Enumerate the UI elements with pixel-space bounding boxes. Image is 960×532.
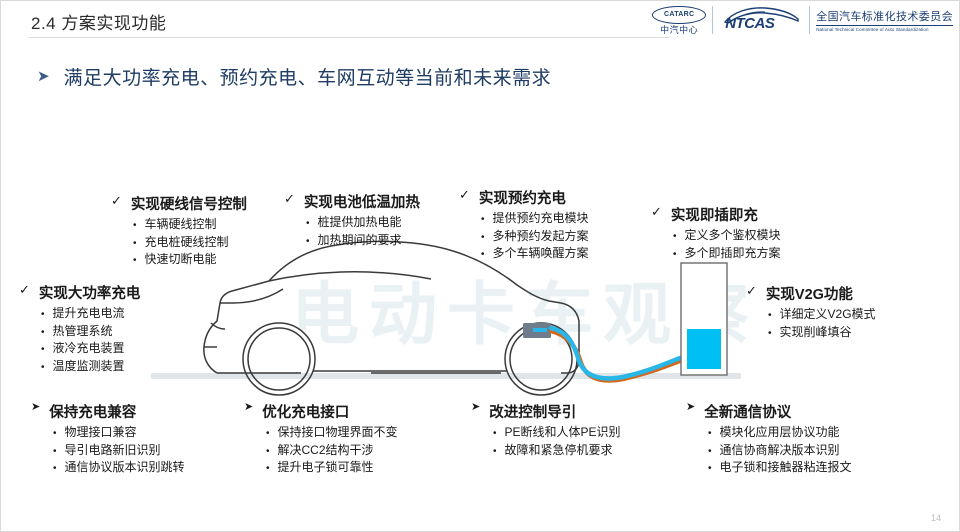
bullet-dot-icon: •	[133, 237, 137, 252]
callout-bullet-item: •定义多个鉴权模块	[673, 227, 781, 245]
page-title: 2.4 方案实现功能	[31, 9, 166, 34]
callout-bullet-item: •保持接口物理界面不变	[266, 424, 398, 442]
callout-heading: ✓实现硬线信号控制	[111, 193, 247, 214]
bullet-text: 模块化应用层协议功能	[720, 424, 840, 441]
bullet-dot-icon: •	[53, 427, 57, 442]
callout-title: 实现预约充电	[479, 187, 566, 208]
check-marker-icon: ✓	[284, 191, 295, 207]
logo-divider-2	[809, 6, 810, 34]
bullet-dot-icon: •	[481, 231, 485, 246]
bullet-dot-icon: •	[708, 427, 712, 442]
bullet-dot-icon: •	[41, 308, 45, 323]
callout-battery-low-temp-heating: ✓实现电池低温加热•桩提供加热电能•加热期间的要求	[284, 191, 420, 249]
callout-bullet-item: •快速切断电能	[133, 251, 247, 269]
callout-bullet-item: •导引电路新旧识别	[53, 442, 185, 460]
callout-bullet-item: •车辆硬线控制	[133, 216, 247, 234]
bullet-text: 液冷充电装置	[53, 340, 125, 357]
callout-bullet-list: •详细定义V2G模式•实现削峰填谷	[768, 306, 876, 341]
callout-bullet-list: •桩提供加热电能•加热期间的要求	[306, 214, 420, 249]
check-marker-icon: ✓	[459, 187, 470, 203]
front-wheel-icon	[243, 323, 315, 395]
bullet-text: 多个车辆唤醒方案	[493, 245, 589, 262]
catarc-logo: CATARC 中汽中心	[652, 6, 706, 35]
callout-bullet-item: •多个车辆唤醒方案	[481, 245, 589, 263]
charging-pile-display	[687, 329, 721, 369]
check-marker-icon: ✓	[651, 204, 662, 220]
bullet-text: 加热期间的要求	[318, 232, 402, 249]
bullet-dot-icon: •	[673, 230, 677, 245]
callout-bullet-item: •通信协议版本识别跳转	[53, 459, 185, 477]
callout-title: 改进控制导引	[489, 401, 576, 422]
callout-bullet-list: •提升充电电流•热管理系统•液冷充电装置•温度监测装置	[41, 305, 140, 375]
callout-bullet-list: •保持接口物理界面不变•解决CC2结构干涉•提升电子锁可靠性	[266, 424, 398, 477]
callout-bullet-item: •故障和紧急停机要求	[493, 442, 621, 460]
catarc-abbr: CATARC	[652, 6, 706, 24]
callout-high-power-charging: ✓实现大功率充电•提升充电电流•热管理系统•液冷充电装置•温度监测装置	[19, 282, 140, 375]
callout-heading: ✓实现电池低温加热	[284, 191, 420, 212]
subtitle-row: ➤ 满足大功率充电、预约充电、车网互动等当前和未来需求	[37, 63, 551, 90]
callout-title: 实现大功率充电	[39, 282, 141, 303]
callout-scheduled-charging: ✓实现预约充电•提供预约充电模块•多种预约发起方案•多个车辆唤醒方案	[459, 187, 589, 263]
bullet-text: 导引电路新旧识别	[65, 442, 161, 459]
callout-plug-and-charge: ✓实现即插即充•定义多个鉴权模块•多个即插即充方案	[651, 204, 781, 262]
bullet-dot-icon: •	[306, 235, 310, 250]
callout-title: 保持充电兼容	[49, 401, 136, 422]
callout-title: 全新通信协议	[704, 401, 791, 422]
callout-bullet-list: •定义多个鉴权模块•多个即插即充方案	[673, 227, 781, 262]
ntcas-abbr: NTCAS	[725, 15, 774, 32]
callout-bullet-list: •物理接口兼容•导引电路新旧识别•通信协议版本识别跳转	[53, 424, 185, 477]
callout-title: 优化充电接口	[262, 401, 349, 422]
callout-bullet-item: •实现削峰填谷	[768, 324, 876, 342]
subtitle-text: 满足大功率充电、预约充电、车网互动等当前和未来需求	[64, 63, 552, 90]
catarc-chinese-name: 中汽中心	[660, 26, 698, 35]
callout-bullet-list: •车辆硬线控制•充电桩硬线控制•快速切断电能	[133, 216, 247, 269]
bullet-text: 提升充电电流	[53, 305, 125, 322]
bullet-dot-icon: •	[481, 213, 485, 228]
bullet-text: 提供预约充电模块	[493, 210, 589, 227]
callout-heading: ➤改进控制导引	[471, 401, 621, 422]
bullet-text: 解决CC2结构干涉	[278, 442, 374, 459]
bullet-dot-icon: •	[41, 326, 45, 341]
committee-name-cn: 全国汽车标准化技术委员会	[816, 8, 953, 26]
header-divider	[29, 37, 669, 38]
bullet-dot-icon: •	[41, 361, 45, 376]
bullet-dot-icon: •	[708, 462, 712, 477]
callout-hardwire-signal-control: ✓实现硬线信号控制•车辆硬线控制•充电桩硬线控制•快速切断电能	[111, 193, 247, 269]
bullet-dot-icon: •	[133, 219, 137, 234]
callout-title: 实现V2G功能	[766, 283, 853, 304]
callout-optimize-charging-interface: ➤优化充电接口•保持接口物理界面不变•解决CC2结构干涉•提升电子锁可靠性	[244, 401, 398, 477]
callout-title: 实现电池低温加热	[304, 191, 420, 212]
logo-block: CATARC 中汽中心 NTCAS 全国汽车标准化技术委员会 National …	[652, 4, 953, 36]
callout-bullet-list: •模块化应用层协议功能•通信协商解决版本识别•电子锁和接触器粘连报文	[708, 424, 852, 477]
bullet-text: 多种预约发起方案	[493, 228, 589, 245]
callout-bullet-item: •加热期间的要求	[306, 232, 420, 250]
bullet-text: 通信协商解决版本识别	[720, 442, 840, 459]
bullet-dot-icon: •	[306, 217, 310, 232]
callout-bullet-item: •多种预约发起方案	[481, 228, 589, 246]
bullet-text: 详细定义V2G模式	[780, 306, 876, 323]
bullet-text: 保持接口物理界面不变	[278, 424, 398, 441]
callout-bullet-item: •多个即插即充方案	[673, 245, 781, 263]
check-marker-icon: ✓	[111, 193, 122, 209]
callout-bullet-list: •PE断线和人体PE识别•故障和紧急停机要求	[493, 424, 621, 459]
callout-bullet-item: •物理接口兼容	[53, 424, 185, 442]
bullet-text: 物理接口兼容	[65, 424, 137, 441]
callout-bullet-item: •提供预约充电模块	[481, 210, 589, 228]
callout-heading: ✓实现预约充电	[459, 187, 589, 208]
callout-heading: ✓实现V2G功能	[746, 283, 876, 304]
callout-bullet-item: •提升电子锁可靠性	[266, 459, 398, 477]
callout-bullet-item: •解决CC2结构干涉	[266, 442, 398, 460]
bullet-dot-icon: •	[266, 445, 270, 460]
bullet-text: PE断线和人体PE识别	[505, 424, 621, 441]
bullet-text: 通信协议版本识别跳转	[65, 459, 185, 476]
bullet-dot-icon: •	[768, 309, 772, 324]
bullet-dot-icon: •	[266, 462, 270, 477]
callout-bullet-item: •电子锁和接触器粘连报文	[708, 459, 852, 477]
callout-bullet-item: •温度监测装置	[41, 358, 140, 376]
bullet-dot-icon: •	[53, 462, 57, 477]
callout-charging-compatibility: ➤保持充电兼容•物理接口兼容•导引电路新旧识别•通信协议版本识别跳转	[31, 401, 185, 477]
bullet-dot-icon: •	[266, 427, 270, 442]
callout-heading: ➤优化充电接口	[244, 401, 398, 422]
committee-name-en: National Technical Committee of Auto Sta…	[816, 27, 953, 33]
chevron-marker-icon: ➤	[471, 401, 480, 414]
callout-title: 实现硬线信号控制	[131, 193, 247, 214]
chevron-marker-icon: ➤	[686, 401, 695, 414]
committee-name-block: 全国汽车标准化技术委员会 National Technical Committe…	[816, 8, 953, 33]
callout-heading: ➤保持充电兼容	[31, 401, 185, 422]
bullet-dot-icon: •	[133, 254, 137, 269]
bullet-text: 车辆硬线控制	[145, 216, 217, 233]
callout-bullet-item: •桩提供加热电能	[306, 214, 420, 232]
callout-heading: ✓实现大功率充电	[19, 282, 140, 303]
callout-bullet-item: •热管理系统	[41, 323, 140, 341]
callout-new-communication-protocol: ➤全新通信协议•模块化应用层协议功能•通信协商解决版本识别•电子锁和接触器粘连报…	[686, 401, 852, 477]
logo-divider	[712, 6, 713, 34]
callout-title: 实现即插即充	[671, 204, 758, 225]
bullet-dot-icon: •	[493, 427, 497, 442]
bullet-text: 充电桩硬线控制	[145, 234, 229, 251]
callout-improve-control-pilot: ➤改进控制导引•PE断线和人体PE识别•故障和紧急停机要求	[471, 401, 621, 459]
callout-bullet-item: •详细定义V2G模式	[768, 306, 876, 324]
check-marker-icon: ✓	[19, 282, 30, 298]
callout-bullet-item: •PE断线和人体PE识别	[493, 424, 621, 442]
callout-bullet-item: •充电桩硬线控制	[133, 234, 247, 252]
subtitle-arrow-icon: ➤	[37, 69, 50, 84]
callout-bullet-item: •提升充电电流	[41, 305, 140, 323]
bullet-text: 故障和紧急停机要求	[505, 442, 613, 459]
chevron-marker-icon: ➤	[244, 401, 253, 414]
callout-bullet-item: •模块化应用层协议功能	[708, 424, 852, 442]
slide-canvas: 2.4 方案实现功能 CATARC 中汽中心 NTCAS 全国汽车标准化技术委员…	[0, 0, 960, 532]
callout-heading: ➤全新通信协议	[686, 401, 852, 422]
callout-bullet-item: •液冷充电装置	[41, 340, 140, 358]
callout-heading: ✓实现即插即充	[651, 204, 781, 225]
callout-bullet-list: •提供预约充电模块•多种预约发起方案•多个车辆唤醒方案	[481, 210, 589, 263]
callout-v2g-function: ✓实现V2G功能•详细定义V2G模式•实现削峰填谷	[746, 283, 876, 341]
bullet-text: 定义多个鉴权模块	[685, 227, 781, 244]
bullet-dot-icon: •	[708, 445, 712, 460]
bullet-text: 温度监测装置	[53, 358, 125, 375]
bullet-dot-icon: •	[768, 327, 772, 342]
bullet-dot-icon: •	[41, 343, 45, 358]
ntcas-logo: NTCAS	[719, 5, 803, 35]
bullet-text: 多个即插即充方案	[685, 245, 781, 262]
callout-bullet-item: •通信协商解决版本识别	[708, 442, 852, 460]
bullet-dot-icon: •	[493, 445, 497, 460]
bullet-dot-icon: •	[673, 248, 677, 263]
bullet-text: 提升电子锁可靠性	[278, 459, 374, 476]
charging-connector-icon	[523, 323, 551, 338]
chevron-marker-icon: ➤	[31, 401, 40, 414]
ground-strip	[151, 373, 741, 379]
page-number: 14	[931, 513, 941, 523]
bullet-text: 电子锁和接触器粘连报文	[720, 459, 852, 476]
bullet-dot-icon: •	[53, 445, 57, 460]
check-marker-icon: ✓	[746, 283, 757, 299]
bullet-text: 实现削峰填谷	[780, 324, 852, 341]
charging-pile	[681, 263, 727, 375]
bullet-text: 热管理系统	[53, 323, 113, 340]
bullet-dot-icon: •	[481, 248, 485, 263]
bullet-text: 快速切断电能	[145, 251, 217, 268]
bullet-text: 桩提供加热电能	[318, 214, 402, 231]
